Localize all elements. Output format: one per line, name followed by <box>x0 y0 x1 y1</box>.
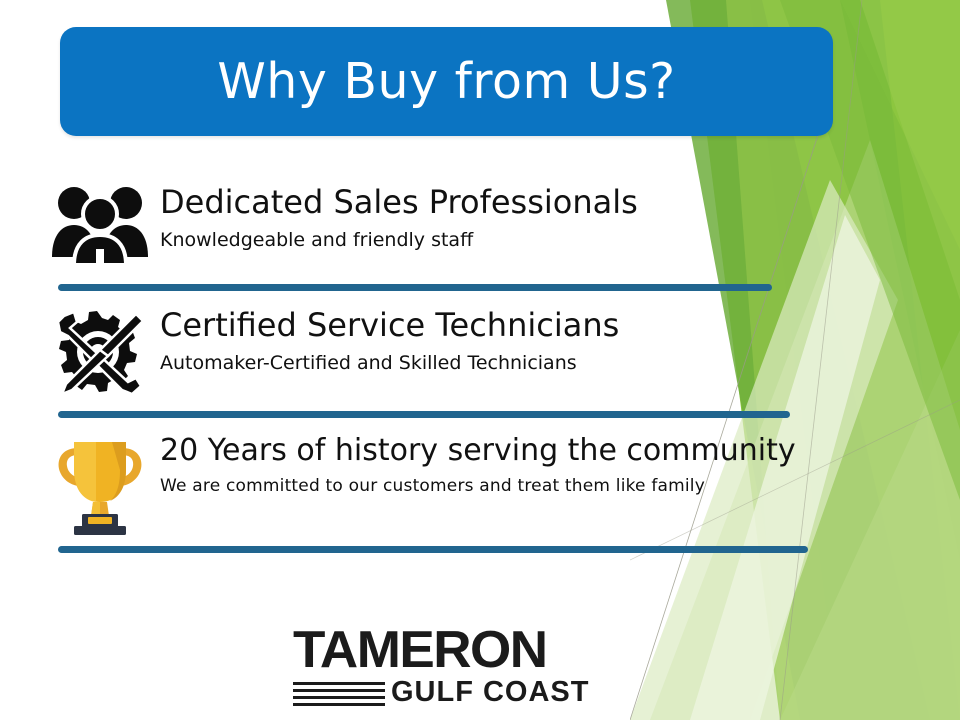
trophy-icon <box>40 432 160 536</box>
section-divider <box>58 411 790 418</box>
people-group-icon <box>40 183 160 265</box>
feature-text: 20 Years of history serving the communit… <box>160 432 796 496</box>
logo-second-row: GULF COAST <box>293 678 565 707</box>
feature-heading: Certified Service Technicians <box>160 308 619 344</box>
logo-wordmark: TAMERON <box>293 624 570 676</box>
feature-row: 20 Years of history serving the communit… <box>40 432 796 536</box>
page-title: Why Buy from Us? <box>217 57 675 106</box>
feature-heading: Dedicated Sales Professionals <box>160 185 638 221</box>
logo-stripes-icon <box>293 680 385 706</box>
feature-row: Dedicated Sales Professionals Knowledgea… <box>40 183 638 265</box>
gear-wrench-screwdriver-icon <box>40 306 160 398</box>
section-divider <box>58 284 772 291</box>
feature-subtext: Automaker-Certified and Skilled Technici… <box>160 352 619 374</box>
section-divider <box>58 546 808 553</box>
logo-tagline: GULF COAST <box>391 678 590 707</box>
feature-text: Certified Service Technicians Automaker-… <box>160 306 619 374</box>
tameron-gulf-coast-logo: TAMERON GULF COAST <box>293 624 565 696</box>
title-banner: Why Buy from Us? <box>60 27 833 136</box>
slide-canvas: Why Buy from Us? Dedicated Sales Profess… <box>0 0 960 720</box>
feature-subtext: We are committed to our customers and tr… <box>160 476 796 496</box>
feature-text: Dedicated Sales Professionals Knowledgea… <box>160 183 638 251</box>
feature-heading: 20 Years of history serving the communit… <box>160 434 796 468</box>
feature-row: Certified Service Technicians Automaker-… <box>40 306 619 398</box>
feature-subtext: Knowledgeable and friendly staff <box>160 229 638 251</box>
